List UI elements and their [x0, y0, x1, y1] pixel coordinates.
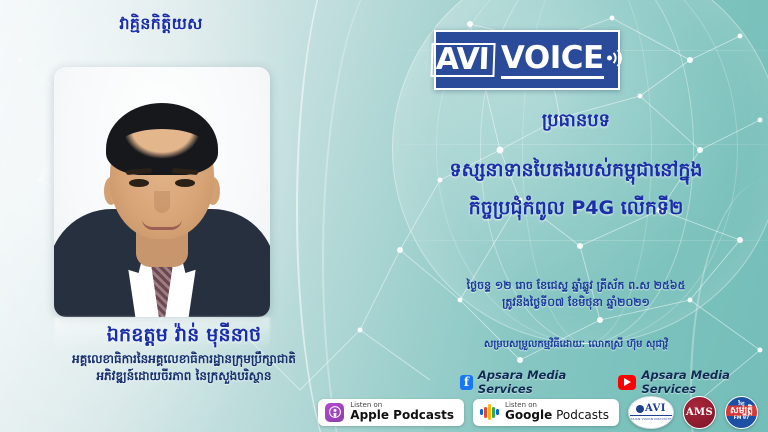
globe-parallel: [396, 240, 768, 241]
speaker-title-line-1: អគ្គលេខាធិការនៃអគ្គលេខាធិការដ្ឋានក្រុមប្…: [0, 351, 368, 368]
google-podcasts-icon: [480, 404, 499, 421]
google-badge-text: Listen on Google Podcasts: [505, 402, 609, 422]
google-badge-big: Google Podcasts: [505, 409, 609, 422]
google-badge-suffix: Podcasts: [556, 408, 609, 422]
avi-logo-subtitle: ASIAN VISION INSTITUTE: [630, 415, 671, 421]
eye-right: [175, 179, 195, 187]
speaker-photo: [54, 67, 270, 317]
youtube-icon: [618, 375, 636, 390]
mouth: [142, 219, 182, 230]
apple-badge-big: Apple Podcasts: [350, 409, 454, 422]
portrait-illustration: [54, 67, 270, 317]
fm-radio-logo[interactable]: វិទ្យុ សម្បត្តិ FM 97: [725, 396, 758, 429]
globe-dot-icon: [636, 405, 644, 413]
topic-line-2: កិច្ចប្រជុំកំពូល P4G លើកទី២: [384, 196, 768, 224]
fm-logo-bottom: FM 97: [734, 417, 749, 422]
speaker-name-block: ឯកឧត្តម វ៉ាន់ មុនីនាថ អគ្គលេខាធិការនៃអគ្…: [0, 324, 368, 386]
hair: [106, 103, 218, 175]
avi-logo-top: AVI: [636, 403, 666, 414]
avi-voice-logo: AVI VOICE: [434, 30, 620, 90]
sponsor-line: សម្របសម្រួលកម្មវិធីដោយៈ លោកស្រី ហ៊ុម សុជ…: [384, 337, 768, 352]
avi-institute-logo[interactable]: AVI ASIAN VISION INSTITUTE: [628, 396, 674, 429]
topic-label: ប្រធានបទ: [384, 108, 768, 135]
ams-logo-word: AMS: [686, 407, 713, 418]
speaker-name: ឯកឧត្តម វ៉ាន់ មុនីនាថ: [0, 324, 368, 348]
avi-logo-word: AVI: [645, 403, 666, 414]
apple-podcasts-badge[interactable]: Listen on Apple Podcasts: [318, 399, 464, 426]
poster-canvas: វាគ្មិនកិត្តិយស ឯកឧត្តម វ៉ាន់ មុនីនាថ អគ…: [0, 0, 768, 432]
logo-voice-text: VOICE: [501, 41, 604, 79]
topic-line-1: ទស្សនាទានបៃតងរបស់កម្ពុជានៅក្នុង: [384, 158, 768, 186]
apple-badge-text: Listen on Apple Podcasts: [350, 402, 454, 422]
speaker-title-line-2: អភិវឌ្ឍន៍ដោយចីរភាព នៃក្រសួងបរិស្ថាន: [0, 368, 368, 385]
apple-podcasts-icon: [325, 403, 344, 422]
sound-wave-icon: [607, 47, 623, 73]
footer-bar: Listen on Apple Podcasts Listen on Googl…: [0, 392, 768, 432]
google-podcasts-badge[interactable]: Listen on Google Podcasts: [473, 399, 619, 426]
eye-left: [129, 179, 149, 187]
logo-avi-text: AVI: [431, 43, 496, 77]
speaker-honorific-label: វាគ្មិនកិត្តិយស: [0, 13, 322, 37]
date-gregorian: ត្រូវនឹងថ្ងៃទី០៧ ខែមិថុនា ឆ្នាំ២០២១: [384, 296, 768, 312]
globe-parallel: [396, 144, 768, 145]
nose: [154, 191, 170, 213]
facebook-icon: f: [460, 375, 473, 390]
google-badge-brand: Google: [505, 408, 552, 422]
date-khmer-lunar: ថ្ងៃចន្ទ ១២ រោច ខែជេស្ឋ ឆ្នាំឆ្លូវ ត្រីស…: [384, 279, 768, 295]
ams-logo[interactable]: AMS: [683, 396, 716, 429]
